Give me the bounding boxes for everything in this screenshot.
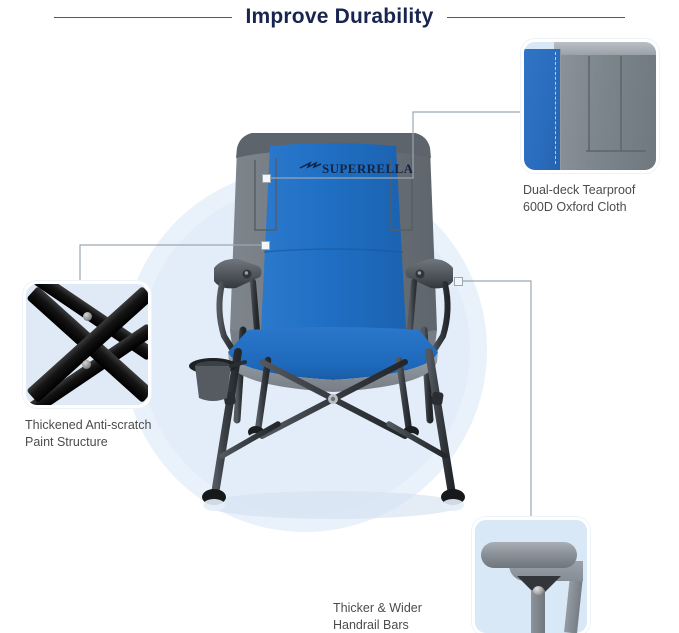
fabric-seam-1 (588, 56, 590, 152)
fabric-seam-2 (620, 56, 622, 152)
fabric-stitch-line (555, 52, 556, 164)
connector-dot-handrail (454, 277, 463, 286)
callout-caption-frame: Thickened Anti-scratch Paint Structure (25, 417, 151, 451)
callout-caption-fabric: Dual-deck Tearproof 600D Oxford Cloth (523, 182, 659, 216)
svg-text:SUPERRELLA: SUPERRELLA (322, 161, 414, 176)
handrail-rivet (533, 586, 544, 595)
frame-rivet-bottom (82, 360, 91, 369)
fabric-top-edge (554, 42, 659, 55)
x-frame-closeup-photo (23, 281, 151, 408)
fabric-closeup-photo (521, 39, 659, 173)
handrail-padded-tube (481, 542, 577, 568)
frame-rivet-top (83, 312, 92, 321)
connector-dot-frame (261, 241, 270, 250)
handrail-rear-post (564, 575, 583, 633)
callout-fabric: Dual-deck Tearproof 600D Oxford Cloth (521, 39, 659, 216)
infographic-canvas: Improve Durability (0, 0, 679, 633)
callout-caption-handrail: Thicker & Wider Handrail Bars (333, 600, 422, 633)
fabric-seam-horizontal (586, 150, 646, 152)
handrail-closeup-photo (472, 517, 590, 633)
connector-dot-fabric (262, 174, 271, 183)
handrail-support-post (531, 590, 545, 633)
callout-handrail (472, 517, 590, 633)
callout-frame: Thickened Anti-scratch Paint Structure (23, 281, 151, 451)
